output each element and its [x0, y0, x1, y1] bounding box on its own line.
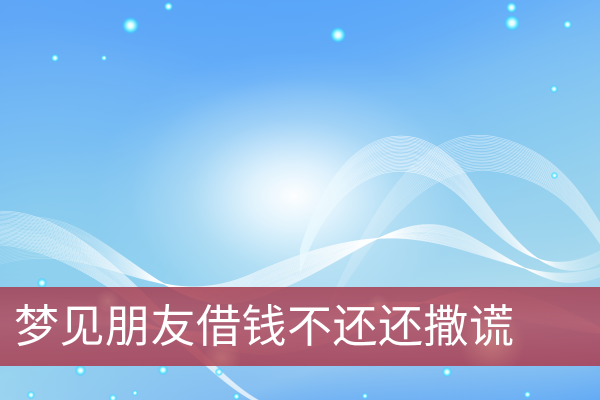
title-banner: 梦见朋友借钱不还还撒谎 — [0, 287, 600, 366]
banner-title-text: 梦见朋友借钱不还还撒谎 — [14, 304, 515, 349]
title-image-canvas: 梦见朋友借钱不还还撒谎 — [0, 0, 600, 400]
